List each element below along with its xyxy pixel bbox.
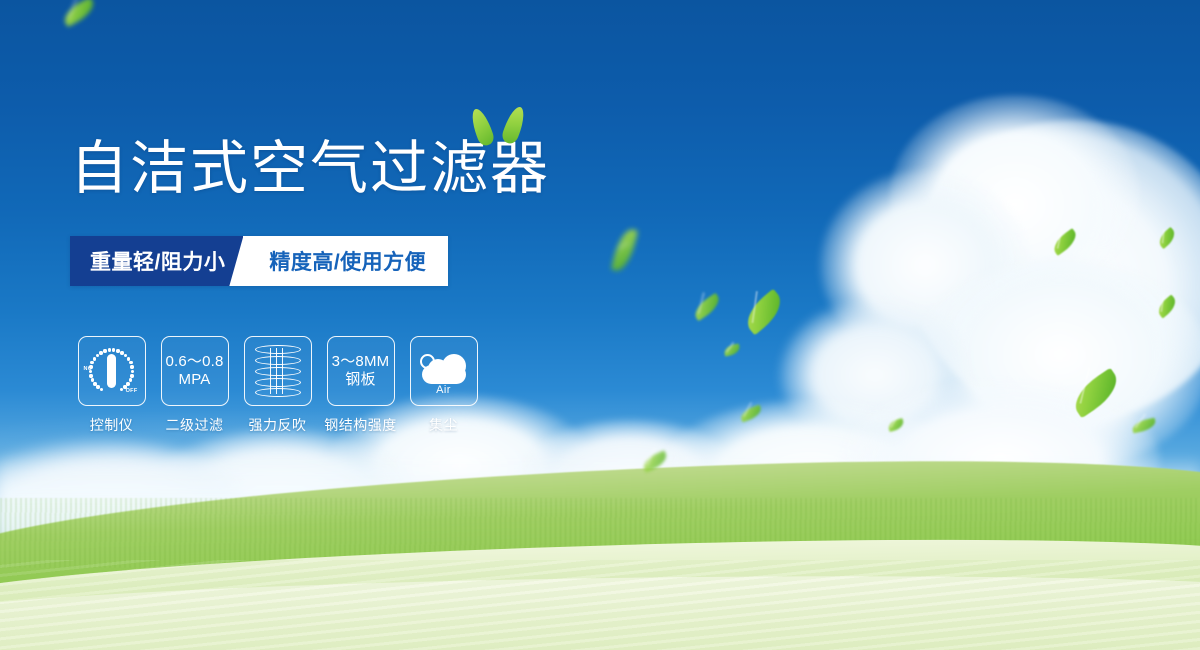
dial-tick-dot bbox=[93, 357, 96, 360]
dial-tick-dot bbox=[103, 349, 106, 352]
feature-icon-box: Air bbox=[410, 336, 478, 406]
promo-banner: 自洁式空气过滤器 重量轻/阻力小 精度高/使用方便 NO OFF 控制仪 0.6… bbox=[0, 0, 1200, 650]
feature-icon-box: 3～8MM 钢板 bbox=[327, 336, 395, 406]
dial-tick-dot bbox=[89, 374, 92, 377]
feature-icon-box bbox=[244, 336, 312, 406]
dial-tick-dot bbox=[108, 348, 111, 351]
cartridge-rod bbox=[276, 348, 278, 394]
feature-item-powerful-backblow[interactable]: 强力反吹 bbox=[240, 336, 315, 435]
subtitle-right: 精度高/使用方便 bbox=[243, 236, 448, 286]
cartridge-disc bbox=[255, 345, 301, 354]
dial-tick-dot bbox=[100, 388, 103, 391]
dial-tick-dot bbox=[120, 351, 123, 354]
feature-list: NO OFF 控制仪 0.6～0.8 MPA 二级过滤 bbox=[74, 336, 481, 435]
cartridge-rod bbox=[282, 348, 284, 394]
feature-icon-box: 0.6～0.8 MPA bbox=[161, 336, 229, 406]
page-title: 自洁式空气过滤器 bbox=[70, 140, 550, 198]
cartridge-disc bbox=[255, 378, 301, 387]
feature-item-dust-collection[interactable]: Air 集尘 bbox=[406, 336, 481, 435]
feature-caption: 集尘 bbox=[429, 415, 458, 435]
dial-tick-dot bbox=[126, 382, 129, 385]
dial-label-on: NO bbox=[84, 366, 93, 372]
cartridge-disc bbox=[255, 356, 301, 365]
feature-item-two-stage-filtration[interactable]: 0.6～0.8 MPA 二级过滤 bbox=[157, 336, 232, 435]
dial-tick-dot bbox=[131, 370, 134, 373]
subtitle-bar: 重量轻/阻力小 精度高/使用方便 bbox=[70, 236, 448, 286]
feature-caption: 二级过滤 bbox=[166, 415, 224, 435]
feature-icon-box: NO OFF bbox=[78, 336, 146, 406]
feature-caption: 强力反吹 bbox=[249, 415, 307, 435]
pressure-value-line2: MPA bbox=[179, 371, 211, 389]
dial-tick-dot bbox=[127, 357, 130, 360]
cartridge-disc bbox=[255, 388, 301, 397]
feature-item-control-instrument[interactable]: NO OFF 控制仪 bbox=[74, 336, 149, 435]
air-label: Air bbox=[418, 384, 470, 396]
dial-label-off: OFF bbox=[126, 388, 138, 394]
cartridge-disc bbox=[255, 367, 301, 376]
feature-caption: 控制仪 bbox=[90, 415, 134, 435]
dial-icon: NO OFF bbox=[85, 345, 139, 397]
cloud-air-icon: Air bbox=[418, 349, 470, 393]
dial-tick-dot bbox=[90, 361, 93, 364]
pressure-value-line1: 0.6～0.8 bbox=[165, 353, 223, 371]
steel-value-line2: 钢板 bbox=[345, 371, 375, 389]
title-block: 自洁式空气过滤器 bbox=[70, 140, 550, 198]
subtitle-left: 重量轻/阻力小 bbox=[70, 236, 243, 286]
dial-tick-dot bbox=[130, 365, 133, 368]
steel-value-line1: 3～8MM bbox=[332, 353, 390, 371]
dial-tick-dot bbox=[96, 354, 99, 357]
cartridge-rod bbox=[270, 348, 272, 394]
dial-tick-dot bbox=[112, 348, 115, 351]
dial-tick-dot bbox=[129, 378, 132, 381]
dial-tick-dot bbox=[99, 351, 102, 354]
dial-tick-dot bbox=[116, 349, 119, 352]
dial-tick-dot bbox=[129, 361, 132, 364]
dial-needle bbox=[107, 354, 116, 388]
filter-cartridge-icon bbox=[255, 345, 301, 397]
feature-item-steel-structure-strength[interactable]: 3～8MM 钢板 钢结构强度 bbox=[323, 336, 398, 435]
feature-caption: 钢结构强度 bbox=[324, 415, 397, 435]
dial-tick-dot bbox=[130, 374, 133, 377]
cloud-base bbox=[422, 365, 466, 384]
